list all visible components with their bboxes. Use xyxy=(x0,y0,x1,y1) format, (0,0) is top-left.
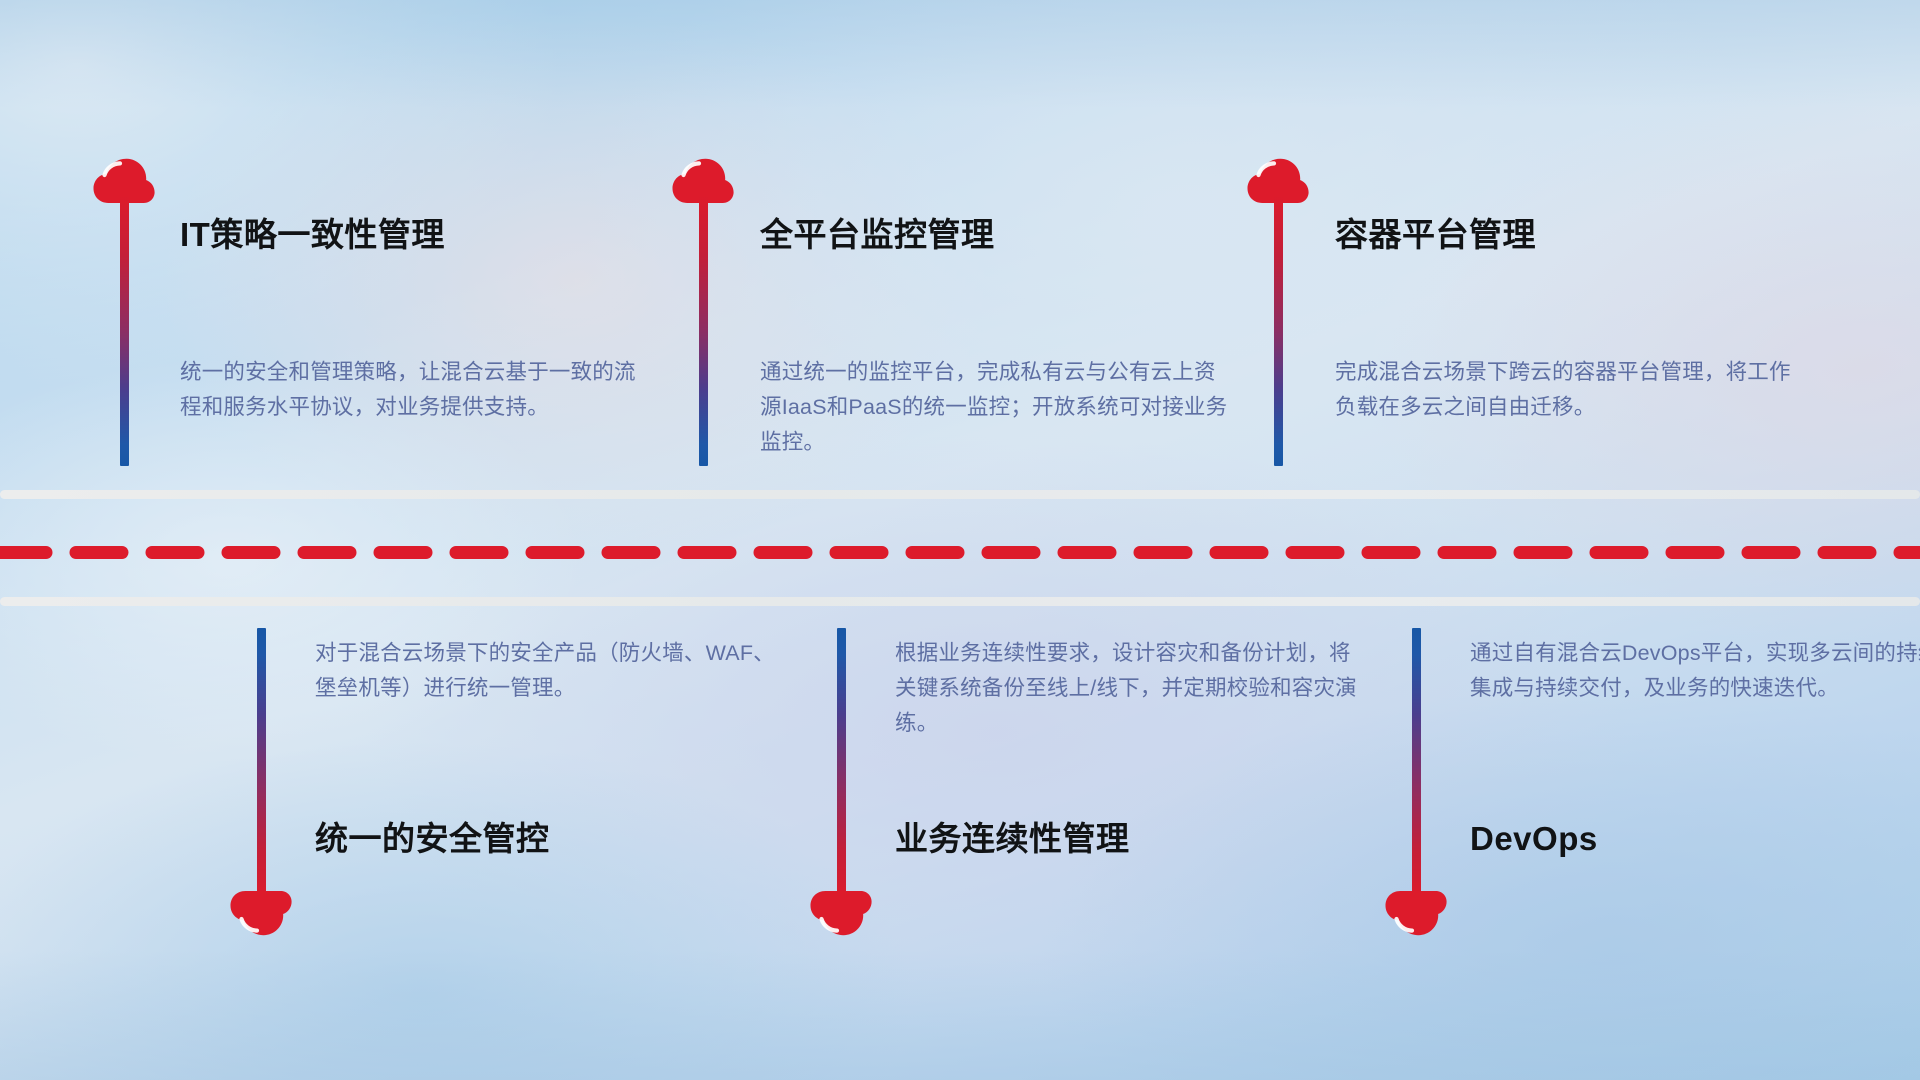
marker-title: IT策略一致性管理 xyxy=(180,218,445,251)
divider-dashed-red xyxy=(0,546,1920,559)
marker-stem xyxy=(1274,196,1283,466)
cloud-icon xyxy=(1385,890,1447,936)
marker-title: 容器平台管理 xyxy=(1335,218,1536,251)
marker-stem xyxy=(1412,628,1421,898)
marker-stem xyxy=(837,628,846,898)
marker-title: 全平台监控管理 xyxy=(760,218,995,251)
marker-body: 通过自有混合云DevOps平台，实现多云间的持续集成与持续交付，及业务的快速迭代… xyxy=(1470,636,1920,706)
divider-line-bottom xyxy=(0,597,1920,606)
marker-stem xyxy=(257,628,266,898)
marker-body: 对于混合云场景下的安全产品（防火墙、WAF、堡垒机等）进行统一管理。 xyxy=(315,636,785,706)
cloud-icon xyxy=(810,890,872,936)
marker-stem xyxy=(120,196,129,466)
marker-title: DevOps xyxy=(1470,822,1598,855)
marker-stem xyxy=(699,196,708,466)
marker-body: 根据业务连续性要求，设计容灾和备份计划，将关键系统备份至线上/线下，并定期校验和… xyxy=(895,636,1365,740)
marker-body: 统一的安全和管理策略，让混合云基于一致的流程和服务水平协议，对业务提供支持。 xyxy=(180,355,650,425)
marker-body: 通过统一的监控平台，完成私有云与公有云上资源IaaS和PaaS的统一监控；开放系… xyxy=(760,355,1230,459)
infographic-canvas: IT策略一致性管理 统一的安全和管理策略，让混合云基于一致的流程和服务水平协议，… xyxy=(0,0,1920,1080)
marker-title: 业务连续性管理 xyxy=(895,822,1130,855)
marker-body: 完成混合云场景下跨云的容器平台管理，将工作负载在多云之间自由迁移。 xyxy=(1335,355,1805,425)
divider-line-top xyxy=(0,490,1920,499)
cloud-icon xyxy=(230,890,292,936)
marker-title: 统一的安全管控 xyxy=(315,822,550,855)
